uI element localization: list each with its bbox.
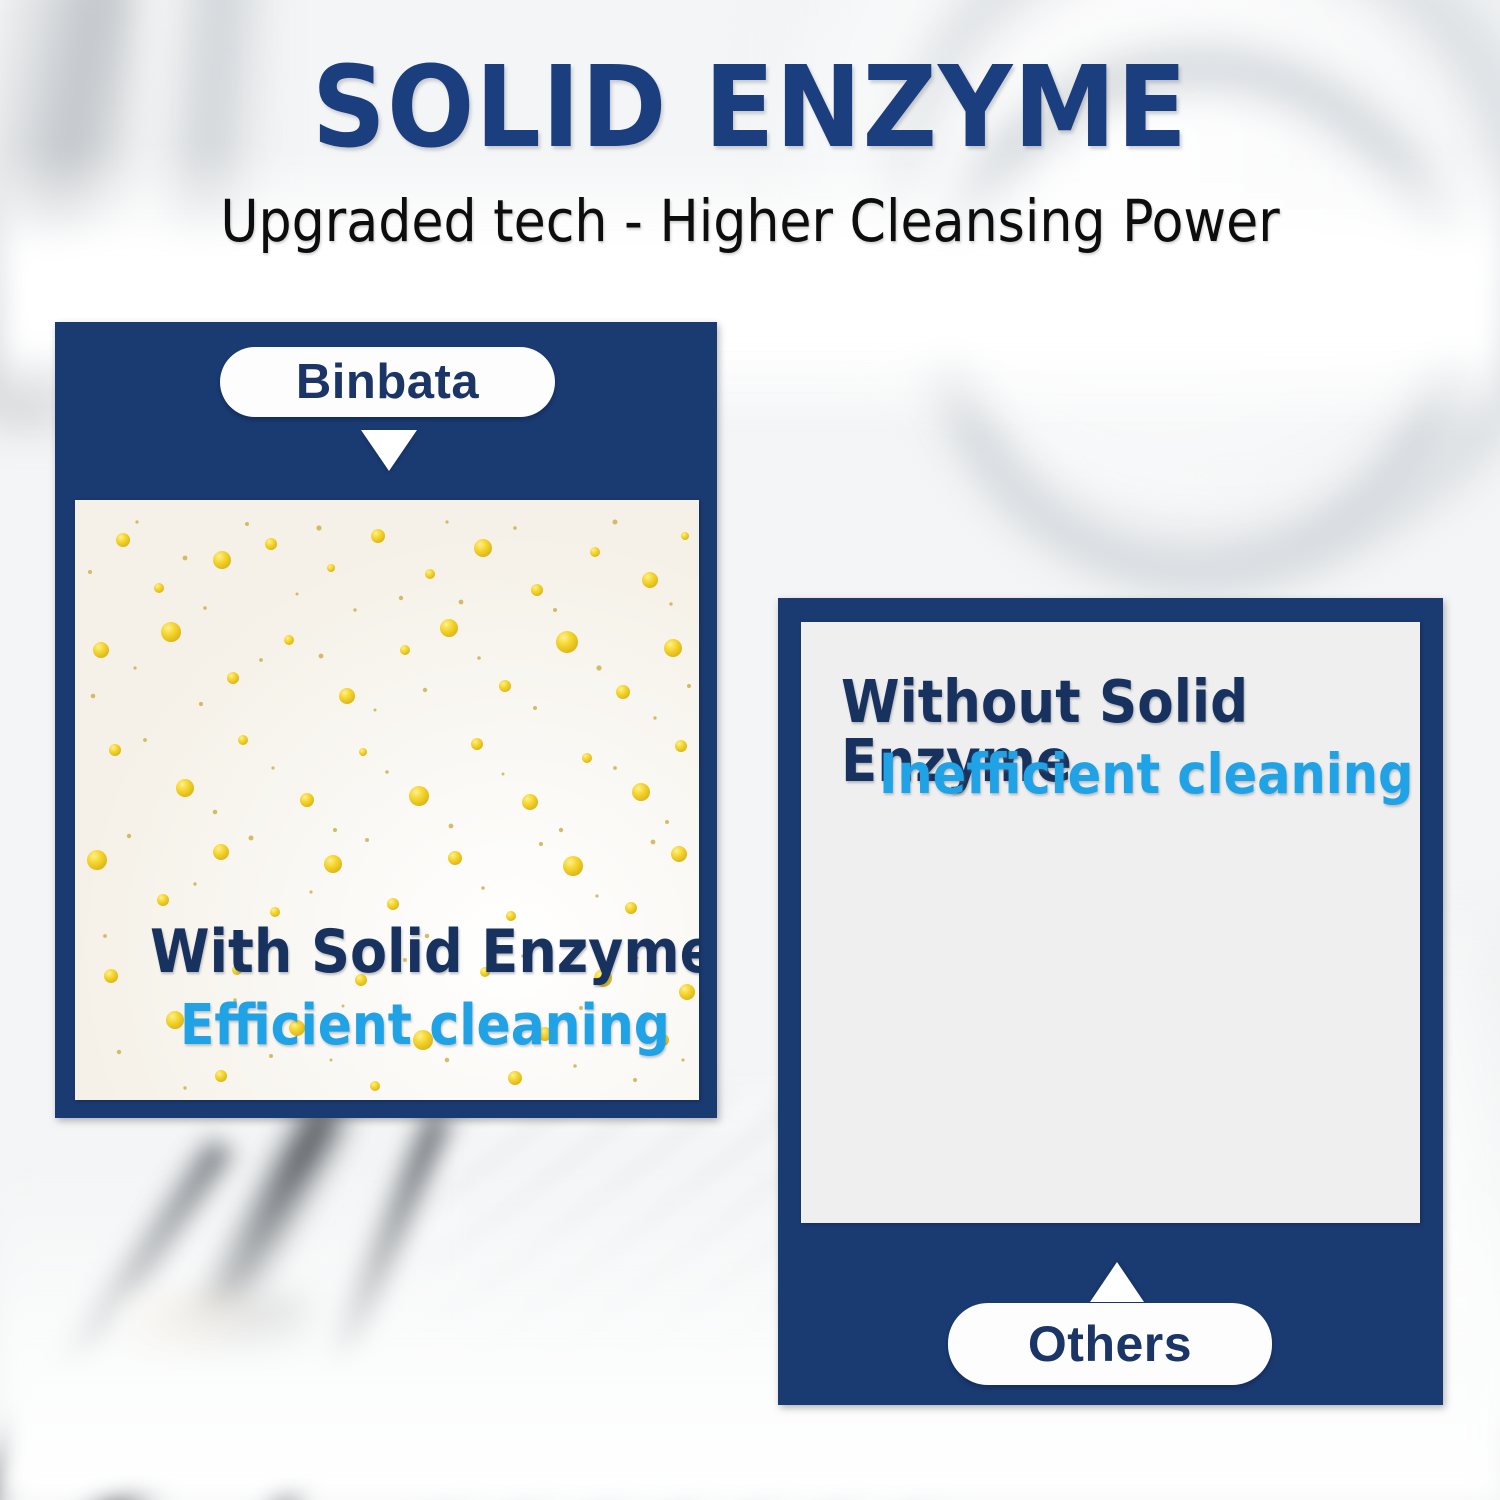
page-title: SOLID ENZYME — [0, 52, 1500, 164]
enzyme-particles-image: With Solid Enzyme Efficient cleaning — [75, 500, 699, 1100]
brand-label-others: Others — [948, 1303, 1272, 1385]
triangle-down-icon — [361, 430, 417, 471]
header: SOLID ENZYME Upgraded tech - Higher Clea… — [0, 0, 1500, 250]
brand-label-binbata: Binbata — [220, 347, 555, 417]
caption-inefficient-cleaning: Inefficient cleaning — [879, 747, 1413, 802]
blank-gray-panel: Without Solid Enzyme Inefficient cleanin… — [801, 622, 1420, 1223]
triangle-up-icon — [1090, 1262, 1144, 1302]
enzyme-particles-svg — [75, 500, 699, 1100]
comparison-card-others: Without Solid Enzyme Inefficient cleanin… — [778, 598, 1443, 1405]
page-subtitle: Upgraded tech - Higher Cleansing Power — [0, 192, 1500, 250]
comparison-card-binbata: Binbata — [55, 322, 717, 1118]
